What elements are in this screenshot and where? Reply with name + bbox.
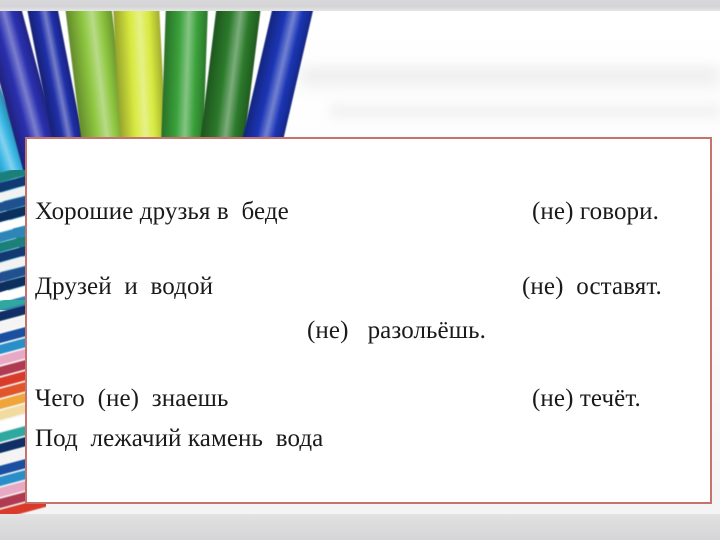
exercise-line-2-right: (не) оставят. <box>522 273 662 301</box>
exercise-line-1-left: Хорошие друзья в беде <box>35 198 289 226</box>
exercise-line-5-left: Под лежачий камень вода <box>35 425 323 453</box>
slide: Хорошие друзья в беде (не) говори. Друзе… <box>0 0 720 540</box>
photo-haze-upper <box>300 60 720 94</box>
exercise-line-4-left: Чего (не) знаешь <box>35 385 229 413</box>
text-card-content: Хорошие друзья в беде (не) говори. Друзе… <box>27 139 710 502</box>
exercise-line-1: Хорошие друзья в беде (не) говори. <box>27 192 710 232</box>
photo-haze-lower <box>330 100 720 122</box>
bottom-gray-band <box>0 514 720 540</box>
exercise-line-2-left: Друзей и водой <box>35 273 213 301</box>
exercise-line-3: (не) разольёшь. <box>27 311 710 351</box>
text-card: Хорошие друзья в беде (не) говори. Друзе… <box>25 137 712 504</box>
exercise-line-2: Друзей и водой (не) оставят. <box>27 267 710 307</box>
exercise-line-3-middle: (не) разольёшь. <box>307 317 486 345</box>
exercise-line-5: Под лежачий камень вода <box>27 419 710 459</box>
top-gray-band <box>0 0 720 11</box>
exercise-line-4-right: (не) течёт. <box>532 385 641 413</box>
exercise-line-1-right: (не) говори. <box>532 198 659 226</box>
exercise-line-4: Чего (не) знаешь (не) течёт. <box>27 379 710 419</box>
